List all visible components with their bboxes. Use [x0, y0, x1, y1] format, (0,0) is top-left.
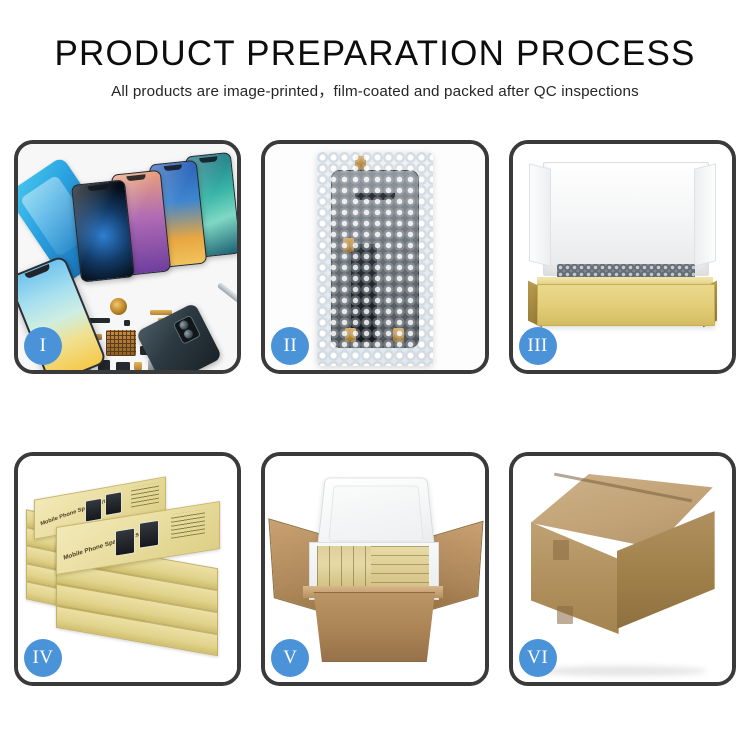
part-screw-2 — [124, 320, 130, 326]
part-contact-grid — [106, 330, 136, 356]
step-panel-3: III — [509, 140, 736, 374]
page-title: PRODUCT PREPARATION PROCESS — [0, 34, 750, 74]
step-badge-6: VI — [519, 639, 557, 677]
foam-lid-open — [317, 477, 436, 552]
step-badge-4: IV — [24, 639, 62, 677]
step-badge-3: III — [519, 327, 557, 365]
step-5-image: V — [265, 456, 484, 682]
step-panel-5: V — [261, 452, 488, 686]
connector-bottom-right — [393, 328, 404, 342]
foam-lid-left-wing — [529, 163, 551, 266]
step-panel-2: II — [261, 140, 488, 374]
connector-bottom-left — [345, 328, 356, 342]
screen-notch — [355, 193, 395, 200]
step-1-image: I — [18, 144, 237, 370]
bubble-wrap-bag — [317, 152, 433, 366]
box-phone-graphic-4 — [139, 520, 159, 549]
process-steps-grid: I II — [14, 140, 736, 686]
part-coil — [110, 298, 127, 315]
foam-lid-right-wing — [694, 163, 716, 266]
connector-top — [355, 156, 366, 170]
step-panel-4: Mobile Phone Spare Parts Mobile Phone Sp… — [14, 452, 241, 686]
step-panel-1: I — [14, 140, 241, 374]
connector-mid — [343, 238, 354, 252]
box-phone-graphic-1 — [85, 498, 102, 523]
step-2-image: II — [265, 144, 484, 370]
step-4-image: Mobile Phone Spare Parts Mobile Phone Sp… — [18, 456, 237, 682]
step-panel-6: VI — [509, 452, 736, 686]
white-foam-lid — [543, 162, 709, 276]
box-spec-lines-front — [171, 509, 205, 538]
carton-shadow — [539, 666, 707, 676]
box-phone-graphic-2 — [105, 491, 122, 516]
phone-lineup — [70, 154, 237, 284]
product-preparation-process-infographic: PRODUCT PREPARATION PROCESS All products… — [0, 0, 750, 750]
part-screw — [134, 362, 142, 370]
carton-tape-upper — [553, 540, 569, 560]
carton-tape-lower — [557, 606, 573, 624]
header: PRODUCT PREPARATION PROCESS All products… — [0, 34, 750, 102]
inner-box-front — [537, 284, 715, 326]
carton-front-panel — [305, 592, 443, 662]
box-phone-graphic-3 — [115, 527, 135, 556]
step-6-image: VI — [513, 456, 732, 682]
box-spec-lines-top — [131, 483, 159, 508]
page-subtitle: All products are image-printed，film-coat… — [0, 82, 750, 102]
camera-module-icon — [173, 315, 202, 345]
step-badge-1: I — [24, 327, 62, 365]
step-3-image: III — [513, 144, 732, 370]
phone-dark-blue — [71, 179, 135, 282]
screen-flex-cable — [351, 244, 377, 342]
part-vibrator — [116, 362, 130, 370]
